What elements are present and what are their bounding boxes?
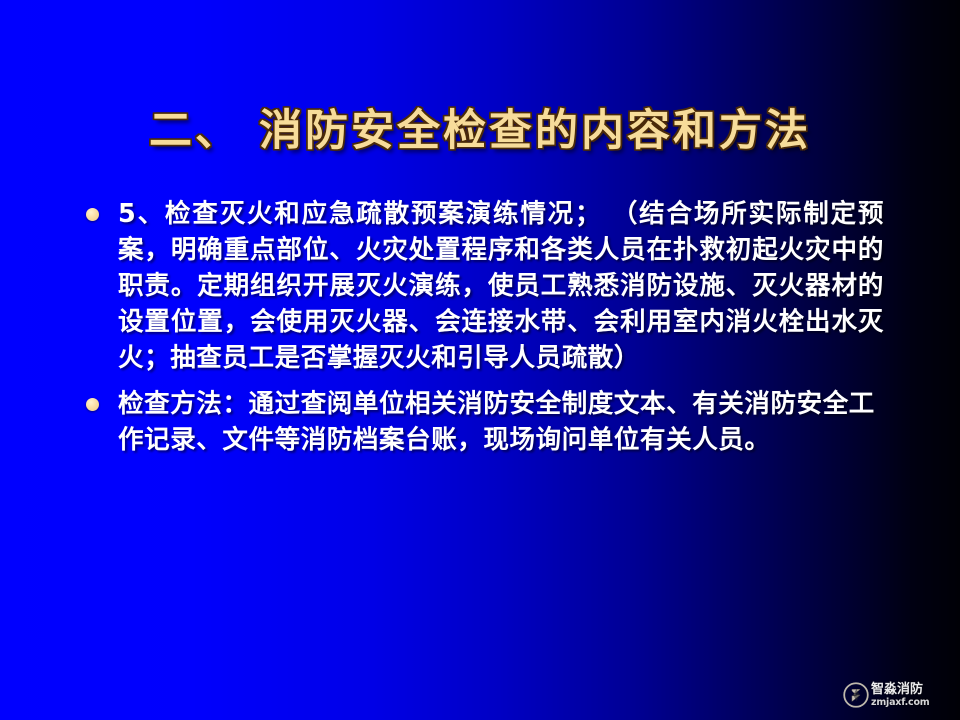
bullet-list: 5、检查灭火和应急疏散预案演练情况； （结合场所实际制定预案，明确重点部位、火灾… [84, 196, 884, 468]
watermark: 智淼消防 zmjaxf.com [843, 678, 955, 712]
bullet-dot-icon [86, 208, 99, 221]
watermark-text: 智淼消防 zmjaxf.com [871, 683, 930, 708]
list-item: 5、检查灭火和应急疏散预案演练情况； （结合场所实际制定预案，明确重点部位、火灾… [84, 196, 884, 376]
slide-canvas: 二、 消防安全检查的内容和方法 5、检查灭火和应急疏散预案演练情况； （结合场所… [0, 0, 960, 720]
watermark-brand: 智淼消防 [871, 683, 930, 696]
bullet-text: 检查方法：通过查阅单位相关消防安全制度文本、有关消防安全工作记录、文件等消防档案… [118, 386, 884, 458]
watermark-domain: zmjaxf.com [871, 698, 930, 708]
bullet-dot-icon [86, 398, 99, 411]
page-title: 二、 消防安全检查的内容和方法 [0, 96, 960, 158]
list-item: 检查方法：通过查阅单位相关消防安全制度文本、有关消防安全工作记录、文件等消防档案… [84, 386, 884, 458]
logo-icon [843, 682, 869, 708]
bullet-text: 5、检查灭火和应急疏散预案演练情况； （结合场所实际制定预案，明确重点部位、火灾… [118, 196, 884, 376]
